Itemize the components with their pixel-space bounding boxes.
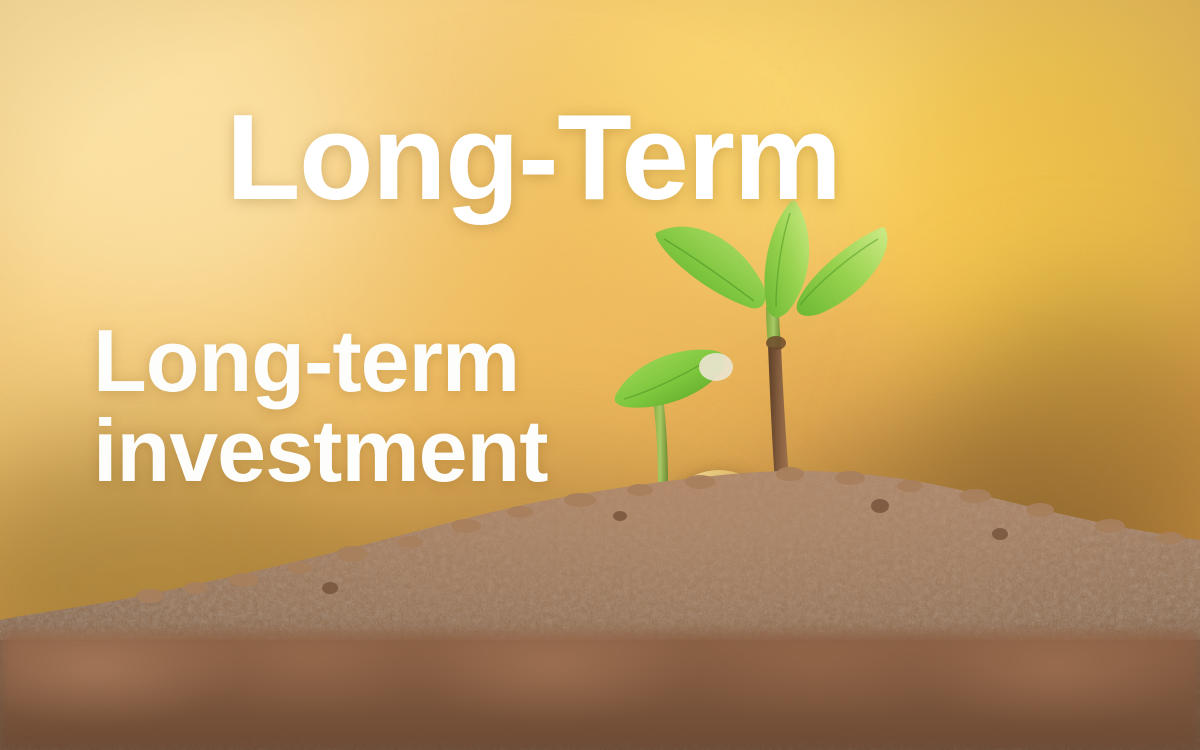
subtitle-block: Long-term investment: [93, 316, 548, 496]
stem-node-upper: [766, 336, 786, 350]
upper-right-leaf: [797, 227, 888, 316]
subtitle-line-2: investment: [93, 406, 548, 496]
banner-canvas: R R: [0, 0, 1200, 750]
soil-foreground-blur: [0, 632, 1200, 750]
subtitle-line-1: Long-term: [93, 316, 548, 406]
page-title: Long-Term: [226, 96, 841, 218]
upper-left-leaf: [656, 227, 766, 309]
seed-husk: [699, 353, 733, 381]
